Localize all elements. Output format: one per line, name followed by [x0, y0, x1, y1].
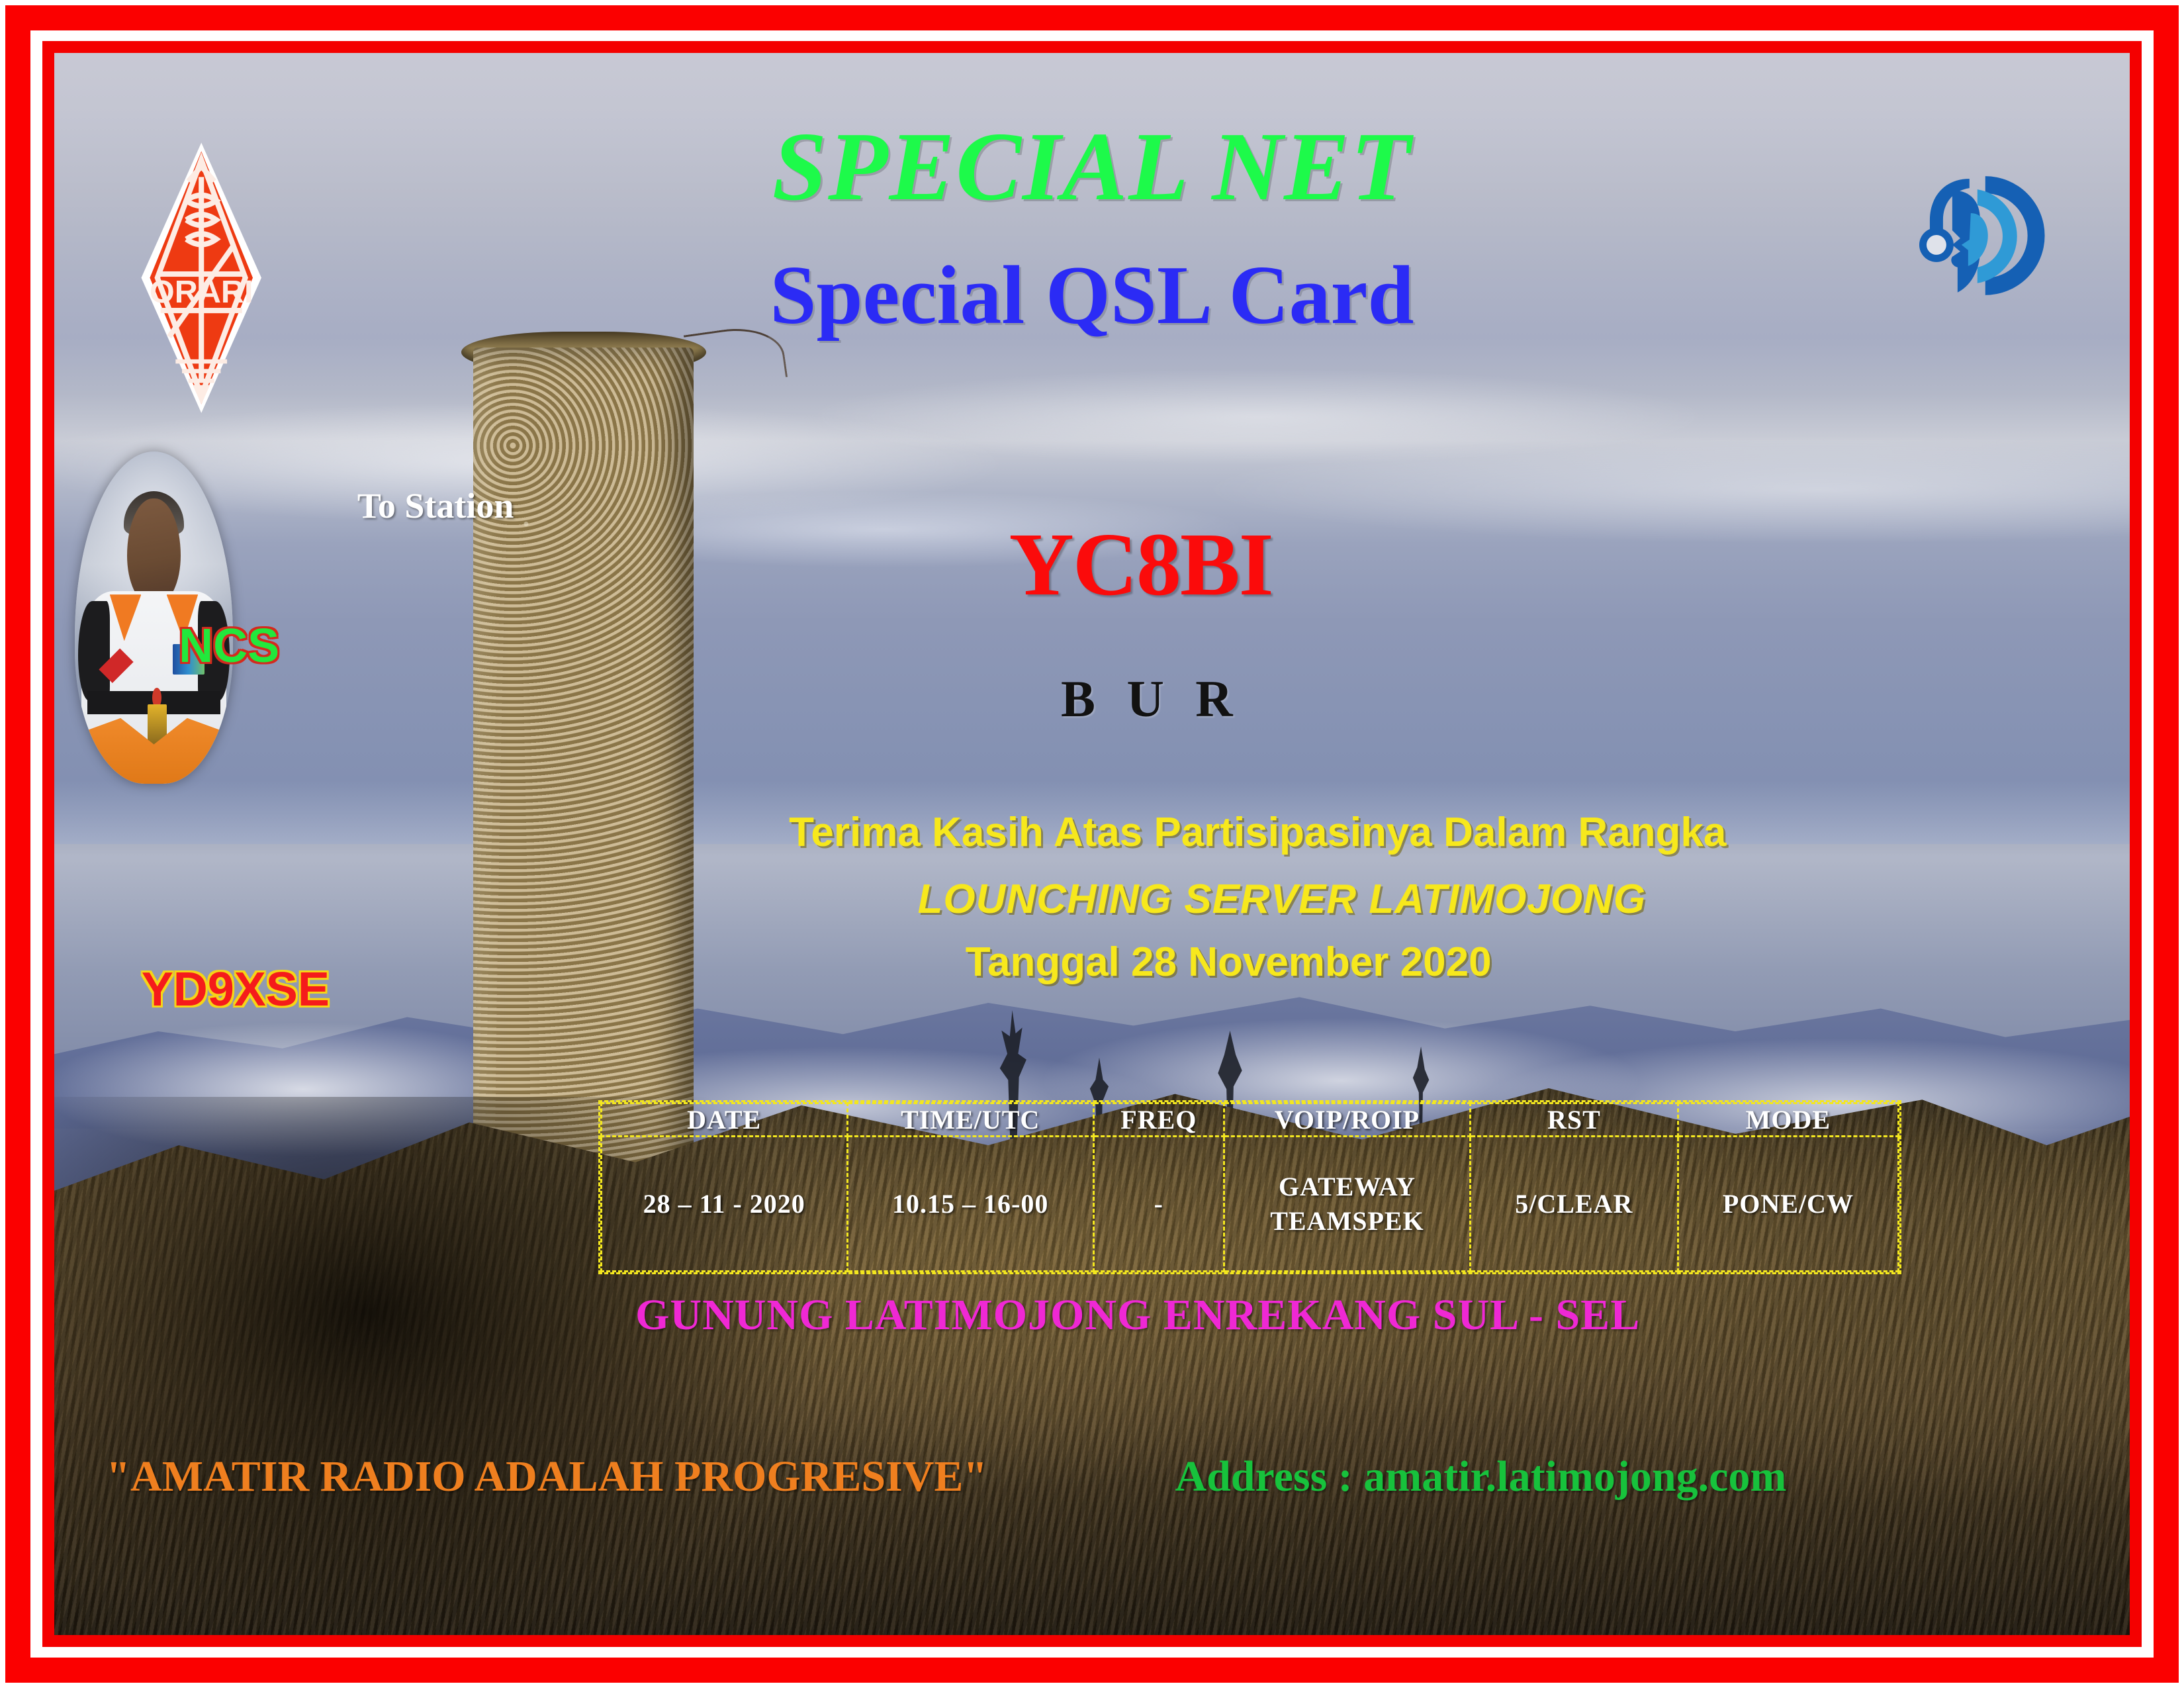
thanks-line: Terima Kasih Atas Partisipasinya Dalam R…: [789, 812, 1726, 853]
column-header-rst: RST: [1470, 1103, 1678, 1137]
page-title: SPECIAL NET: [54, 118, 2130, 216]
cell-rst: 5/CLEAR: [1470, 1137, 1678, 1272]
portrait-face: [127, 498, 181, 605]
motto-text: "AMATIR RADIO ADALAH PROGRESIVE": [106, 1455, 987, 1499]
portrait-shoulder-left: [78, 601, 110, 701]
bur-label: B U R: [1061, 673, 1242, 725]
event-date-line: Tanggal 28 November 2020: [966, 942, 1492, 983]
cell-voip-line2: TEAMSPEK: [1225, 1204, 1469, 1239]
operator-portrait: [75, 451, 232, 784]
column-header-mode: MODE: [1678, 1103, 1898, 1137]
to-station-label: To Station: [357, 488, 514, 524]
cell-voip-line1: GATEWAY: [1225, 1170, 1469, 1204]
qso-log-table: DATE TIME/UTC FREQ VOIP/ROIP RST MODE 28…: [598, 1100, 1901, 1274]
operator-callsign: YD9XSE: [142, 966, 330, 1013]
website-address: Address : amatir.latimojong.com: [1175, 1455, 1786, 1499]
station-callsign: YC8BI: [1009, 520, 1273, 610]
column-header-date: DATE: [601, 1103, 847, 1137]
table-row: 28 – 11 - 2020 10.15 – 16-00 - GATEWAY T…: [601, 1137, 1898, 1272]
cell-freq: -: [1093, 1137, 1224, 1272]
cell-date: 28 – 11 - 2020: [601, 1137, 847, 1272]
cell-time: 10.15 – 16-00: [847, 1137, 1093, 1272]
cell-voip: GATEWAY TEAMSPEK: [1224, 1137, 1470, 1272]
column-header-time: TIME/UTC: [847, 1103, 1093, 1137]
column-header-voip: VOIP/ROIP: [1224, 1103, 1470, 1137]
page-subtitle: Special QSL Card: [54, 254, 2130, 338]
background-photo: ORARI: [54, 53, 2130, 1635]
qsl-card: ORARI: [0, 0, 2184, 1688]
column-header-freq: FREQ: [1093, 1103, 1224, 1137]
cell-mode: PONE/CW: [1678, 1137, 1898, 1272]
table-header-row: DATE TIME/UTC FREQ VOIP/ROIP RST MODE: [601, 1103, 1898, 1137]
event-line: LOUNCHING SERVER LATIMOJONG: [918, 879, 1647, 920]
ncs-role-label: NCS: [179, 622, 279, 670]
location-line: GUNUNG LATIMOJONG ENREKANG SUL - SEL: [635, 1293, 1640, 1337]
